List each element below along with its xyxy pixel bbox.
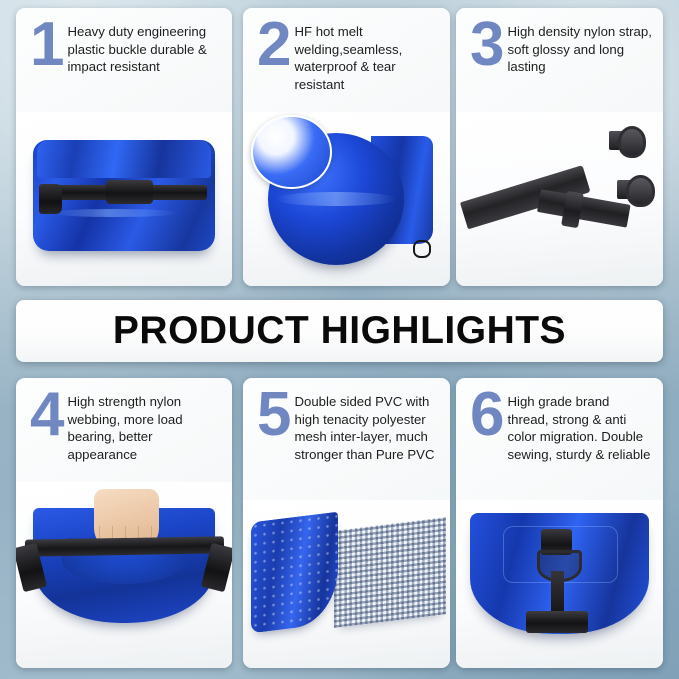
swivel-hook-bottom-icon (626, 175, 655, 207)
feature-5-number: 5 (251, 390, 294, 441)
feature-4-number: 4 (24, 390, 67, 441)
feature-2-number: 2 (251, 20, 294, 71)
side-clip (39, 184, 63, 214)
feature-card-5: 5 Double sided PVC with high tenacity po… (243, 378, 450, 668)
feature-3-description: High density nylon strap, soft glossy an… (507, 20, 653, 76)
strap-webbing-upper (537, 189, 631, 227)
feature-6-header: 6 High grade brand thread, strong & anti… (456, 378, 663, 500)
feature-5-image (243, 500, 450, 668)
feature-5-description: Double sided PVC with high tenacity poly… (294, 390, 440, 463)
nylon-webbing-handle (24, 536, 223, 556)
magnifier-callout-icon (251, 115, 332, 189)
feature-2-header: 2 HF hot melt welding,seamless, waterpro… (243, 8, 450, 112)
d-ring-icon (413, 240, 431, 258)
swivel-hook-top-icon (618, 126, 647, 158)
dry-bag-hardware (33, 140, 214, 251)
polyester-mesh-layer (334, 517, 446, 628)
feature-5-header: 5 Double sided PVC with high tenacity po… (243, 378, 450, 500)
feature-2-image (243, 112, 450, 286)
feature-1-header: 1 Heavy duty engineering plastic buckle … (16, 8, 232, 112)
plastic-buckle (106, 180, 153, 204)
feature-2-description: HF hot melt welding,seamless, waterproof… (294, 20, 440, 93)
feature-4-image (16, 482, 232, 668)
banner-title: PRODUCT HIGHLIGHTS (113, 309, 566, 353)
webbing-tail (551, 571, 563, 616)
feature-card-1: 1 Heavy duty engineering plastic buckle … (16, 8, 232, 286)
feature-1-image (16, 112, 232, 286)
infographic-canvas: 1 Heavy duty engineering plastic buckle … (0, 0, 679, 679)
pvc-coated-fabric-swatch (251, 511, 338, 633)
feature-4-description: High strength nylon webbing, more load b… (67, 390, 222, 463)
feature-6-number: 6 (464, 390, 507, 441)
webbing-base-buckle (526, 611, 588, 633)
feature-3-number: 3 (464, 20, 507, 71)
feature-1-description: Heavy duty engineering plastic buckle du… (67, 20, 222, 76)
feature-3-header: 3 High density nylon strap, soft glossy … (456, 8, 663, 112)
feature-6-description: High grade brand thread, strong & anti c… (507, 390, 653, 463)
feature-card-4: 4 High strength nylon webbing, more load… (16, 378, 232, 668)
feature-1-number: 1 (24, 20, 67, 71)
feature-card-6: 6 High grade brand thread, strong & anti… (456, 378, 663, 668)
product-highlights-banner: PRODUCT HIGHLIGHTS (16, 300, 663, 362)
feature-3-image (456, 112, 663, 286)
feature-card-3: 3 High density nylon strap, soft glossy … (456, 8, 663, 286)
feature-4-header: 4 High strength nylon webbing, more load… (16, 378, 232, 482)
feature-6-image (456, 500, 663, 668)
feature-card-2: 2 HF hot melt welding,seamless, waterpro… (243, 8, 450, 286)
